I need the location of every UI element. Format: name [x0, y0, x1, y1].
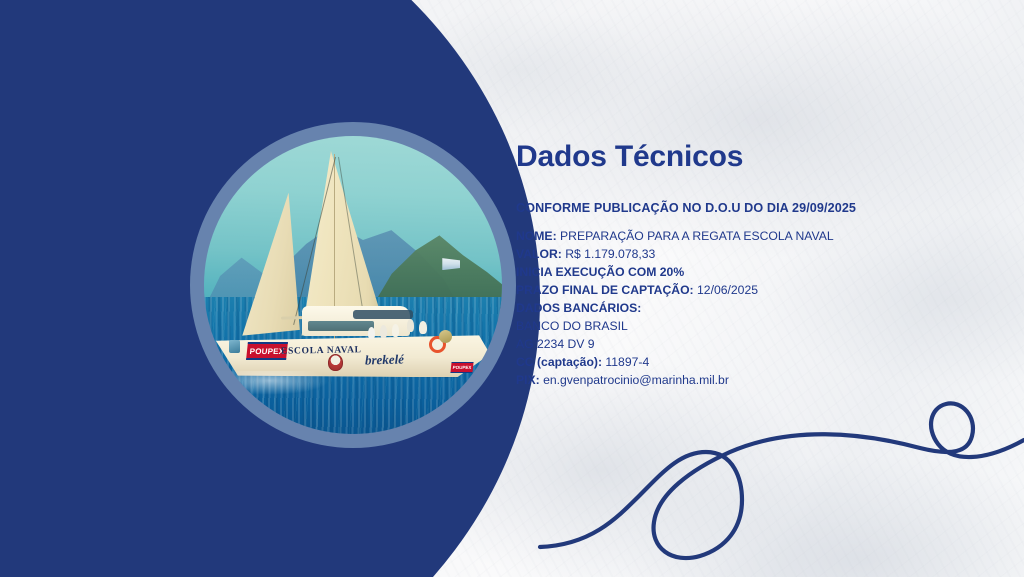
field-conta-value: 11897-4 [602, 355, 649, 369]
field-valor-label: VALOR: [516, 247, 562, 261]
field-nome-label: NOME: [516, 229, 557, 243]
photo-crew-member [407, 319, 414, 332]
field-dados-bancarios: DADOS BANCÁRIOS: [516, 299, 986, 317]
photo-hull-window [229, 340, 240, 353]
field-conta-label: CC (captação): [516, 355, 602, 369]
field-pix: PIX: en.gvenpatrocinio@marinha.mil.br [516, 371, 986, 389]
field-agencia: AG 2234 DV 9 [516, 335, 986, 353]
photo-boat-name: ESCOLA NAVAL [281, 345, 362, 356]
photo-bimini [353, 310, 413, 319]
field-agencia-value: AG 2234 DV 9 [516, 337, 595, 351]
field-nome: NOME: PREPARAÇÃO PARA A REGATA ESCOLA NA… [516, 227, 986, 245]
field-prazo-final: PRAZO FINAL DE CAPTAÇÃO: 12/06/2025 [516, 281, 986, 299]
field-banco-value: BANCO DO BRASIL [516, 319, 628, 333]
photo-wake [210, 371, 329, 395]
photo-crew-member [419, 321, 427, 334]
slide-canvas: POUPEX ESCOLA NAVAL brekelé POUPEX Dados… [0, 0, 1024, 577]
field-valor-value: R$ 1.179.078,33 [562, 247, 656, 261]
photo-boat-nickname: brekelé [365, 352, 404, 369]
field-prazo-final-value: 12/06/2025 [694, 283, 758, 297]
field-inicia-execucao: INICIA EXECUÇÃO COM 20% [516, 263, 986, 281]
photo-crew-member [392, 324, 399, 337]
publication-headline: CONFORME PUBLICAÇÃO NO D.O.U DO DIA 29/0… [516, 199, 986, 217]
photo-inner: POUPEX ESCOLA NAVAL brekelé POUPEX [204, 136, 502, 434]
field-conta: CC (captação): 11897-4 [516, 353, 986, 371]
field-banco: BANCO DO BRASIL [516, 317, 986, 335]
field-pix-value: en.gvenpatrocinio@marinha.mil.br [540, 373, 729, 387]
technical-data-list: CONFORME PUBLICAÇÃO NO D.O.U DO DIA 29/0… [516, 199, 986, 389]
photo-sponsor-logo-poupex-stern: POUPEX [451, 362, 474, 373]
photo-cabin-window [308, 321, 374, 331]
field-pix-label: PIX: [516, 373, 540, 387]
page-title: Dados Técnicos [516, 140, 986, 173]
text-content-block: Dados Técnicos CONFORME PUBLICAÇÃO NO D.… [516, 140, 986, 389]
photo-naval-crest-icon [328, 354, 343, 371]
field-valor: VALOR: R$ 1.179.078,33 [516, 245, 986, 263]
field-nome-value: PREPARAÇÃO PARA A REGATA ESCOLA NAVAL [557, 229, 834, 243]
field-prazo-final-label: PRAZO FINAL DE CAPTAÇÃO: [516, 283, 694, 297]
photo-sailboat: POUPEX ESCOLA NAVAL brekelé POUPEX [204, 136, 502, 434]
field-dados-bancarios-label: DADOS BANCÁRIOS: [516, 301, 641, 315]
photo-crew-member [368, 327, 375, 339]
photo-crew-member [380, 325, 387, 338]
field-inicia-execucao-label: INICIA EXECUÇÃO COM 20% [516, 265, 684, 279]
